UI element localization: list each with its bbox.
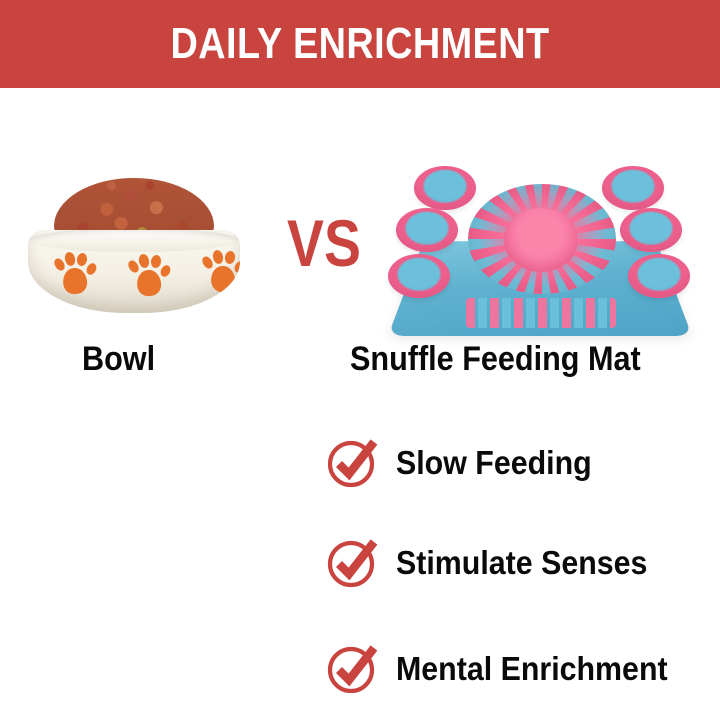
bowl-rim	[29, 230, 239, 252]
check-circle-icon	[324, 533, 382, 591]
header-notch	[383, 88, 690, 98]
benefits-list: Slow Feeding Stimulate Senses Mental Enr…	[0, 414, 720, 720]
mat-fleece-core	[504, 208, 578, 272]
mat-fringe	[466, 298, 616, 328]
benefit-label: Mental Enrichment	[396, 652, 668, 685]
bowl-body	[28, 230, 240, 313]
benefit-item: Slow Feeding	[324, 428, 609, 496]
mat-pocket	[602, 166, 664, 210]
product-label-row: Bowl Snuffle Feeding Mat	[0, 336, 720, 384]
paw-print-icon	[54, 252, 100, 298]
mat-pocket	[628, 254, 690, 298]
benefit-label: Slow Feeding	[396, 446, 592, 479]
product-label-snuffle-mat: Snuffle Feeding Mat	[350, 342, 641, 376]
check-circle-icon	[324, 433, 382, 491]
mat-pocket	[414, 166, 476, 210]
mat-pocket	[396, 208, 458, 252]
benefit-item: Mental Enrichment	[324, 634, 691, 702]
mat-pocket	[388, 254, 450, 298]
benefit-label: Stimulate Senses	[396, 546, 647, 579]
snuffle-mat-image	[388, 150, 692, 338]
benefit-item: Stimulate Senses	[324, 528, 669, 596]
mat-pocket	[620, 208, 682, 252]
bowl-image	[28, 178, 240, 313]
page-title: DAILY ENRICHMENT	[50, 0, 669, 88]
product-label-bowl: Bowl	[82, 342, 155, 376]
check-circle-icon	[324, 639, 382, 697]
paw-print-icon	[128, 254, 174, 300]
vs-label: VS	[277, 210, 371, 276]
paw-print-icon	[202, 250, 240, 296]
